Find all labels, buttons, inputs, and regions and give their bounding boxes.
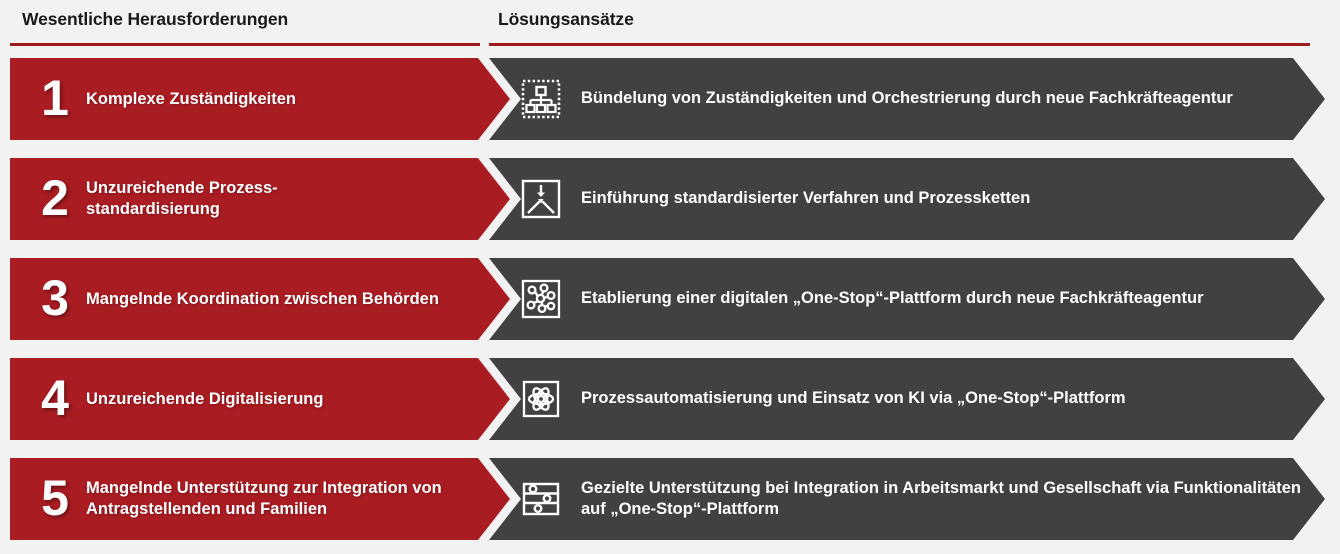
challenge-label-2: Unzureichende Prozess-standardisierung (86, 178, 278, 219)
challenge-number-2: 2 (28, 173, 82, 223)
column-header-challenges: Wesentliche Herausforderungen (22, 9, 288, 30)
row: 4 Unzureichende Digitalisierung Prozessa… (0, 358, 1340, 440)
header: Wesentliche Herausforderungen Lösungsans… (0, 0, 1340, 50)
sliders-settings-icon (520, 478, 562, 520)
challenge-label-3: Mangelnde Koordination zwischen Behörden (86, 289, 439, 310)
converging-arrows-icon (520, 178, 562, 220)
solution-chevron-2[interactable]: Einführung standardisierter Verfahren un… (489, 158, 1325, 240)
header-divider-right (489, 43, 1310, 46)
challenge-chevron-3[interactable]: 3 Mangelnde Koordination zwischen Behörd… (10, 258, 510, 340)
solution-chevron-4[interactable]: Prozessautomatisierung und Einsatz von K… (489, 358, 1325, 440)
challenge-chevron-1[interactable]: 1 Komplexe Zuständigkeiten (10, 58, 510, 140)
solution-chevron-5[interactable]: Gezielte Unterstützung bei Integration i… (489, 458, 1325, 540)
challenge-label-4: Unzureichende Digitalisierung (86, 389, 323, 410)
infographic-root: { "header": { "left_title": "Wesentliche… (0, 0, 1340, 554)
row: 2 Unzureichende Prozess-standardisierung… (0, 158, 1340, 240)
solution-label-3: Etablierung einer digitalen „One-Stop“-P… (581, 288, 1204, 309)
row: 5 Mangelnde Unterstützung zur Integratio… (0, 458, 1340, 540)
network-nodes-icon (520, 278, 562, 320)
challenge-number-4: 4 (28, 373, 82, 423)
column-header-solutions: Lösungsansätze (498, 9, 634, 30)
challenge-number-3: 3 (28, 273, 82, 323)
challenge-chevron-2[interactable]: 2 Unzureichende Prozess-standardisierung (10, 158, 510, 240)
row: 1 Komplexe Zuständigkeiten Bündelung von… (0, 58, 1340, 140)
challenge-number-1: 1 (28, 73, 82, 123)
row: 3 Mangelnde Koordination zwischen Behörd… (0, 258, 1340, 340)
solution-label-5: Gezielte Unterstützung bei Integration i… (581, 478, 1311, 521)
org-chart-icon (520, 78, 562, 120)
solution-label-1: Bündelung von Zuständigkeiten und Orches… (581, 88, 1233, 109)
challenge-number-5: 5 (28, 473, 82, 523)
solution-label-4: Prozessautomatisierung und Einsatz von K… (581, 388, 1126, 409)
challenge-label-5: Mangelnde Unterstützung zur Integration … (86, 478, 486, 519)
solution-label-2: Einführung standardisierter Verfahren un… (581, 188, 1030, 209)
challenge-chevron-4[interactable]: 4 Unzureichende Digitalisierung (10, 358, 510, 440)
header-divider-left (10, 43, 480, 46)
challenge-label-1: Komplexe Zuständigkeiten (86, 89, 296, 110)
challenge-chevron-5[interactable]: 5 Mangelnde Unterstützung zur Integratio… (10, 458, 510, 540)
solution-chevron-1[interactable]: Bündelung von Zuständigkeiten und Orches… (489, 58, 1325, 140)
solution-chevron-3[interactable]: Etablierung einer digitalen „One-Stop“-P… (489, 258, 1325, 340)
row-list: 1 Komplexe Zuständigkeiten Bündelung von… (0, 58, 1340, 540)
atom-ai-icon (520, 378, 562, 420)
